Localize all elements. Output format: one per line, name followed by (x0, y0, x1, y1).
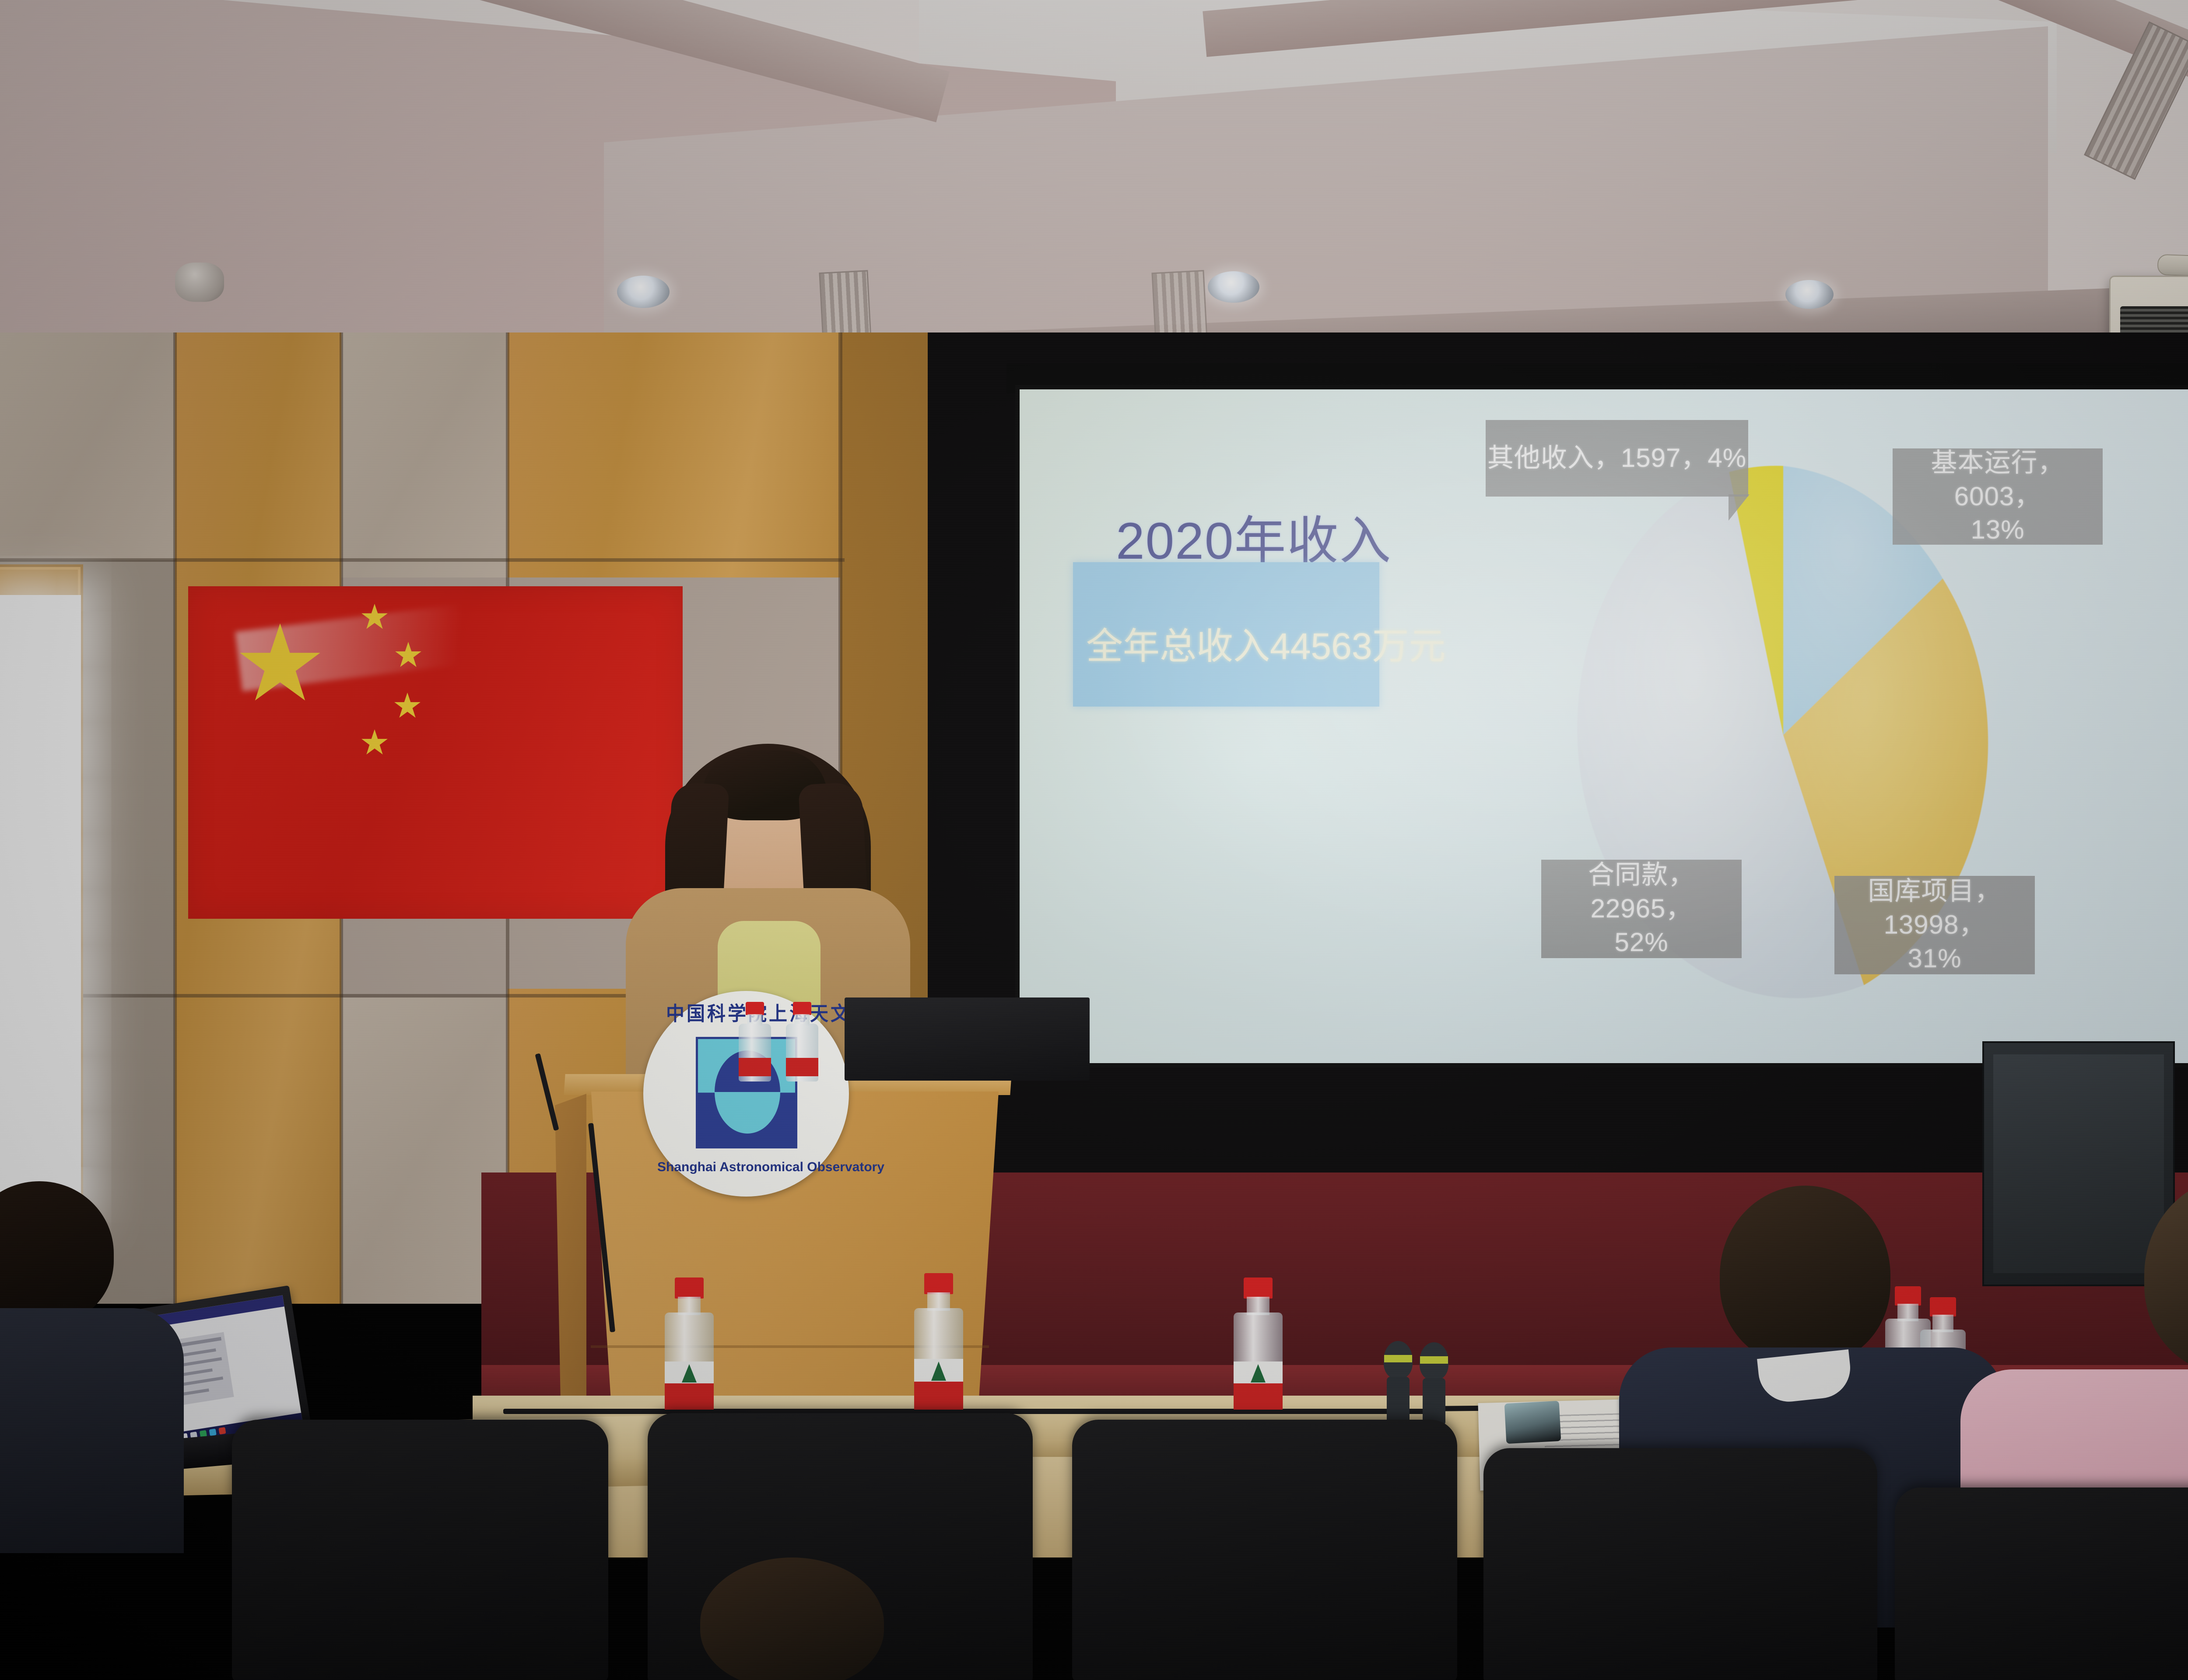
water-bottle (906, 1273, 971, 1409)
pie-label-guokuxiangmu: 国库项目，13998， 31% (1834, 876, 2035, 974)
pie-label-qitashouru: 其他收入，1597，4% (1486, 420, 1748, 497)
loudspeaker-mesh (1993, 1054, 2164, 1273)
water-bottle (1225, 1277, 1291, 1409)
ceiling-downlight-icon (1208, 271, 1259, 303)
bottle-cap (793, 1002, 811, 1015)
audience-head (1720, 1186, 1890, 1365)
panel-seam (0, 558, 845, 562)
presenter-laptop (845, 997, 1090, 1081)
logo-text-en: Shanghai Astronomical Observatory (657, 1160, 835, 1175)
presentation-hall-photo: 2020年收入 全年总收入44563万元 (0, 0, 2188, 1680)
bottle-label-red (1234, 1383, 1283, 1410)
auditorium-chair (232, 1420, 608, 1680)
total-revenue-text: 全年总收入44563万元 (1086, 617, 1446, 670)
flag-star-small (394, 693, 421, 720)
bottle-label (739, 1058, 771, 1076)
smartphone (1504, 1401, 1561, 1444)
mic-indicator-band (1384, 1355, 1412, 1362)
bottle-label-red (665, 1383, 714, 1410)
mic-body (1423, 1378, 1445, 1425)
bottle-cap (1244, 1277, 1273, 1298)
bottle-label-red (914, 1382, 963, 1410)
ceiling-downlight-icon (1785, 280, 1834, 309)
ceiling-downlight-icon (617, 276, 670, 308)
mic-indicator-band (1420, 1356, 1448, 1364)
panel-seam (173, 332, 177, 1304)
auditorium-chair (1483, 1448, 1877, 1680)
pie-label-hetongkuan: 合同款，22965， 52% (1541, 860, 1742, 958)
auditorium-chair (1072, 1420, 1457, 1680)
bottle-cap (675, 1277, 704, 1298)
bottle-cap (924, 1273, 953, 1294)
wall-panel (508, 332, 845, 577)
pie-label-leader (1729, 494, 1750, 521)
water-bottle (783, 1002, 821, 1081)
flag-star-small (361, 729, 388, 756)
taskbar-icon (218, 1427, 226, 1435)
smoke-detector-icon (175, 262, 224, 302)
wall-panel (341, 332, 508, 577)
audience-head (700, 1557, 884, 1680)
wall-panel (0, 332, 175, 560)
mic-body (1387, 1377, 1410, 1424)
pie-label-jibenyunxing: 基本运行，6003， 13% (1893, 448, 2103, 545)
presentation-slide: 2020年收入 全年总收入44563万元 (1020, 389, 2188, 1063)
bottle-cap (746, 1002, 764, 1015)
projection-screen-frame: 2020年收入 全年总收入44563万元 (1015, 385, 2188, 1067)
window-glass (0, 595, 81, 1212)
chinese-flag (188, 586, 683, 919)
audience-shoulders (0, 1308, 184, 1553)
water-bottle (656, 1277, 722, 1409)
water-bottle (736, 1002, 774, 1081)
auditorium-chair (1895, 1487, 2188, 1680)
bottle-cap (1930, 1297, 1956, 1316)
bottle-label (786, 1058, 818, 1076)
